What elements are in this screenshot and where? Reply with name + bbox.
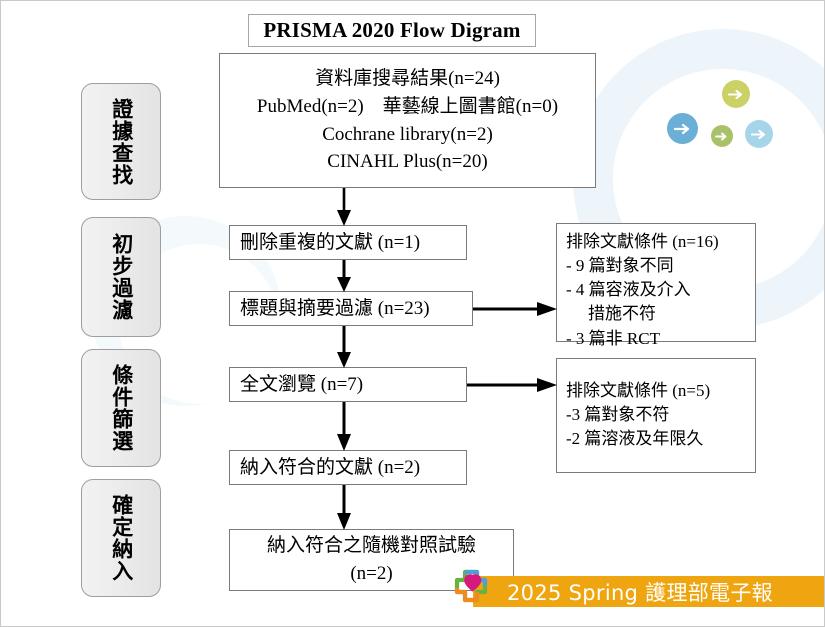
arrow-duplicates-to-screening <box>334 260 354 292</box>
exclusion-box-first: 排除文獻條件 (n=16) - 9 篇對象不同 - 4 篇容液及介入 措施不符 … <box>556 223 756 342</box>
stage-label-initial-filter: 初步過濾 <box>110 233 131 321</box>
flow-box-included-literature: 納入符合的文獻 (n=2) <box>229 450 467 485</box>
stage-label-identification: 證據查找 <box>110 98 131 186</box>
arrow-circle-green-small-icon <box>711 125 733 147</box>
exclusion-second-line-2: -3 篇對象不符 <box>566 403 755 427</box>
nursing-dept-logo-icon <box>444 567 496 615</box>
arrow-circle-lightblue-icon <box>745 120 773 148</box>
exclusion-first-line-3: - 4 篇容液及介入 <box>566 278 755 302</box>
stage-box-initial-filter: 初步過濾 <box>81 217 161 337</box>
stage-box-criteria-screening: 條件篩選 <box>81 349 161 467</box>
flow-box-title-abstract-screening: 標題與摘要過濾 (n=23) <box>229 291 473 326</box>
arrow-screening-to-exclusion-first <box>473 299 557 319</box>
flow-box-identification: 資料庫搜尋結果(n=24) PubMed(n=2) 華藝線上圖書館(n=0) C… <box>219 53 596 188</box>
duplicates-removed-text: 刪除重複的文獻 (n=1) <box>240 229 420 257</box>
footer-banner-text: 2025 Spring 護理部電子報 <box>473 577 773 607</box>
page-title-text: PRISMA 2020 Flow Digram <box>263 18 520 43</box>
exclusion-second-line-1: 排除文獻條件 (n=5) <box>566 379 755 403</box>
identification-line-2: PubMed(n=2) 華藝線上圖書館(n=0) <box>257 93 558 121</box>
arrow-circle-blue-large-icon <box>667 113 698 144</box>
exclusion-first-line-1: 排除文獻條件 (n=16) <box>566 230 755 254</box>
stage-box-confirmed-inclusion: 確定納入 <box>81 479 161 597</box>
stage-label-confirmed-inclusion: 確定納入 <box>110 494 131 582</box>
page-title: PRISMA 2020 Flow Digram <box>248 14 536 47</box>
exclusion-first-line-2: - 9 篇對象不同 <box>566 254 755 278</box>
exclusion-first-line-5: - 3 篇非 RCT <box>566 327 755 351</box>
identification-line-3: Cochrane library(n=2) <box>322 121 493 149</box>
included-rct-line-1: 納入符合之隨機對照試驗 <box>267 532 476 560</box>
identification-line-4: CINAHL Plus(n=20) <box>327 148 487 176</box>
included-rct-line-2: (n=2) <box>350 560 392 588</box>
exclusion-box-second: 排除文獻條件 (n=5) -3 篇對象不符 -2 篇溶液及年限久 <box>556 358 756 473</box>
identification-line-1: 資料庫搜尋結果(n=24) <box>315 65 500 93</box>
flow-box-fulltext-review: 全文瀏覽 (n=7) <box>229 367 467 402</box>
exclusion-second-line-3: -2 篇溶液及年限久 <box>566 427 755 451</box>
stage-label-criteria-screening: 條件篩選 <box>110 364 131 452</box>
included-literature-text: 納入符合的文獻 (n=2) <box>240 454 420 482</box>
arrow-included-to-rct <box>334 485 354 530</box>
arrow-circle-yellow-green-icon <box>722 80 750 108</box>
title-abstract-screening-text: 標題與摘要過濾 (n=23) <box>240 295 430 323</box>
arrow-fulltext-to-included <box>334 402 354 451</box>
arrow-screening-to-fulltext <box>334 326 354 368</box>
arrow-fulltext-to-exclusion-second <box>467 375 557 395</box>
exclusion-first-line-4: 措施不符 <box>566 302 755 326</box>
flow-box-duplicates-removed: 刪除重複的文獻 (n=1) <box>229 225 467 260</box>
slide-canvas: PRISMA 2020 Flow Digram 證據查找 初步過濾 條件篩選 確… <box>0 0 825 627</box>
stage-box-identification: 證據查找 <box>81 83 161 200</box>
arrow-identification-to-duplicates <box>334 188 354 226</box>
footer-banner: 2025 Spring 護理部電子報 <box>473 576 825 607</box>
fulltext-review-text: 全文瀏覽 (n=7) <box>240 371 363 399</box>
